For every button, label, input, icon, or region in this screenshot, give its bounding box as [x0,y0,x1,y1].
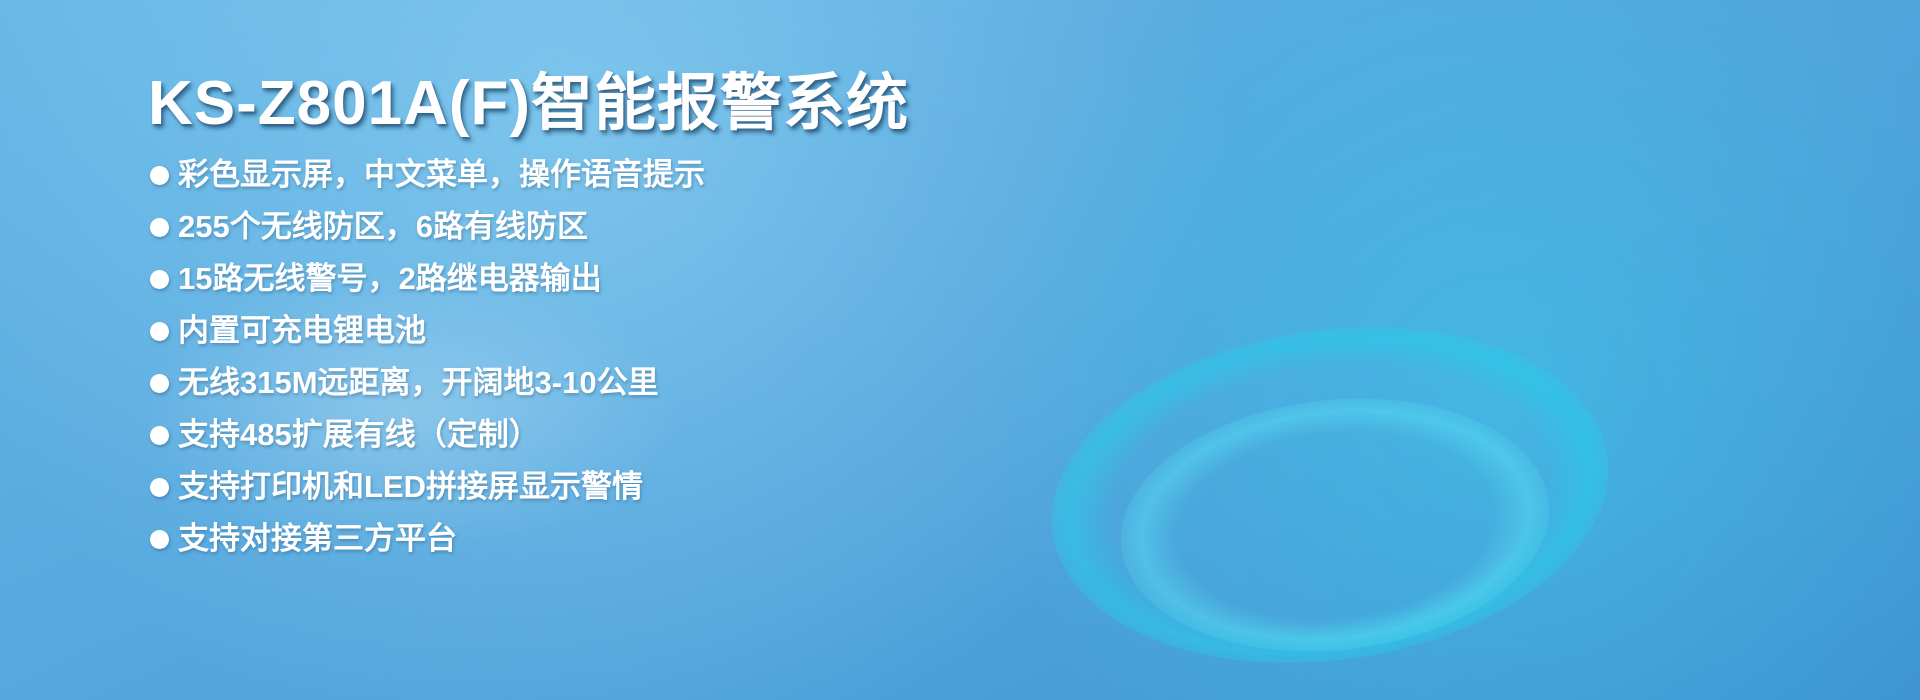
product-banner: KS-Z801A(F)智能报警系统 彩色显示屏，中文菜单，操作语音提示 255个… [0,0,1920,700]
page-title: KS-Z801A(F)智能报警系统 [148,52,909,142]
feature-text: 15路无线警号，2路继电器输出 [178,256,602,302]
list-item: 彩色显示屏，中文菜单，操作语音提示 [150,152,970,198]
bullet-icon [150,478,169,497]
list-item: 支持打印机和LED拼接屏显示警情 [150,464,970,510]
feature-text: 支持打印机和LED拼接屏显示警情 [178,464,643,510]
bullet-icon [150,426,169,445]
bullet-icon [150,322,169,341]
list-item: 支持485扩展有线（定制） [150,412,970,458]
bullet-icon [150,218,169,237]
feature-text: 支持485扩展有线（定制） [178,412,540,458]
feature-text: 255个无线防区，6路有线防区 [178,204,588,250]
feature-text: 内置可充电锂电池 [178,308,426,354]
list-item: 支持对接第三方平台 [150,516,970,562]
list-item: 15路无线警号，2路继电器输出 [150,256,970,302]
feature-text: 支持对接第三方平台 [178,516,457,562]
bullet-icon [150,166,169,185]
feature-text: 彩色显示屏，中文菜单，操作语音提示 [178,152,705,198]
bullet-icon [150,270,169,289]
banner-content: KS-Z801A(F)智能报警系统 彩色显示屏，中文菜单，操作语音提示 255个… [0,0,980,700]
product-image: ▼ ▮ 22:27 01-01-01 系统正常 电源 布防 故障 报警 火警 [950,0,1920,700]
feature-list: 彩色显示屏，中文菜单，操作语音提示 255个无线防区，6路有线防区 15路无线警… [150,152,970,568]
list-item: 内置可充电锂电池 [150,308,970,354]
bullet-icon [150,374,169,393]
feature-text: 无线315M远距离，开阔地3-10公里 [178,360,659,406]
list-item: 255个无线防区，6路有线防区 [150,204,970,250]
bullet-icon [150,530,169,549]
list-item: 无线315M远距离，开阔地3-10公里 [150,360,970,406]
